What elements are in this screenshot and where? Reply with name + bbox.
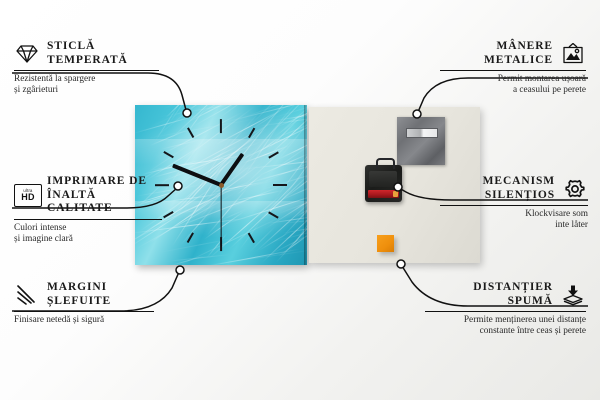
callout-foam-spacer[interactable]: DISTANȚIER SPUMĂ Permite menținerea unei… — [425, 281, 586, 338]
callout-divider — [14, 311, 154, 312]
callout-header: STICLĂ TEMPERATĂ — [14, 40, 159, 67]
callout-header: DISTANȚIER SPUMĂ — [425, 281, 586, 308]
foam-spacer-icon — [560, 284, 586, 306]
callout-title: STICLĂ TEMPERATĂ — [47, 40, 128, 67]
callout-subtitle: Klockvisare som inte låter — [440, 209, 588, 232]
title-line-2: ÎNALTĂ CALITATE — [47, 189, 113, 215]
title-line-2: METALICE — [484, 54, 553, 66]
product-image — [135, 105, 480, 270]
hour-tick — [220, 119, 222, 133]
hd-label: HD — [21, 193, 35, 202]
title-line-2: TEMPERATĂ — [47, 54, 128, 66]
callout-header: ultra HD IMPRIMARE DE ÎNALTĂ CALITATE — [14, 175, 162, 216]
callout-subtitle: Rezistentă la spargere și zgârieturi — [14, 74, 159, 97]
title-line-1: DISTANȚIER — [473, 281, 553, 293]
callout-divider — [14, 70, 159, 71]
metal-hanger-icon — [397, 117, 445, 165]
quartz-mechanism — [365, 165, 402, 202]
sub-line-2: a ceasului pe perete — [513, 85, 586, 95]
callout-silent-mechanism[interactable]: MECANISM SILENȚIOS Klockvisare som inte … — [440, 175, 588, 232]
callout-tempered-glass[interactable]: STICLĂ TEMPERATĂ Rezistentă la spargere … — [14, 40, 159, 97]
sub-line-1: Finisare netedă și sigură — [14, 315, 104, 325]
callout-title: DISTANȚIER SPUMĂ — [473, 281, 553, 308]
callout-header: MARGINI ȘLEFUITE — [14, 281, 154, 308]
callout-divider — [425, 311, 586, 312]
title-line-1: MECANISM — [483, 175, 555, 187]
sub-line-1: Culori intense — [14, 223, 66, 233]
callout-divider — [440, 205, 588, 206]
callout-header: MECANISM SILENȚIOS — [440, 175, 588, 202]
ultra-hd-icon: ultra HD — [14, 184, 40, 206]
sub-line-2: inte låter — [555, 220, 588, 230]
clock-hub — [219, 183, 224, 188]
callout-subtitle: Culori intense și imagine clară — [14, 223, 162, 246]
gear-icon — [562, 178, 588, 200]
callout-divider — [14, 219, 162, 220]
title-line-1: MÂNERE — [496, 40, 553, 52]
picture-hanger-icon — [560, 43, 586, 65]
callout-divider — [440, 70, 586, 71]
title-line-2: SILENȚIOS — [485, 189, 555, 201]
callout-title: MÂNERE METALICE — [484, 40, 553, 67]
infographic-stage: STICLĂ TEMPERATĂ Rezistentă la spargere … — [0, 0, 600, 400]
second-hand — [220, 185, 221, 247]
sub-line-1: Klockvisare som — [525, 209, 588, 219]
callout-high-quality-print[interactable]: ultra HD IMPRIMARE DE ÎNALTĂ CALITATE Cu… — [14, 175, 162, 245]
title-line-2: SPUMĂ — [508, 295, 553, 307]
mechanism-plate — [369, 171, 397, 187]
callout-title: IMPRIMARE DE ÎNALTĂ CALITATE — [47, 175, 162, 216]
foam-spacer — [377, 235, 394, 252]
title-line-1: MARGINI — [47, 281, 107, 293]
glass-edge — [304, 105, 307, 265]
battery — [368, 190, 399, 198]
sub-line-1: Permite menținerea unei distanțe — [464, 315, 586, 325]
hour-tick — [273, 184, 287, 186]
title-line-1: STICLĂ — [47, 40, 95, 52]
title-line-2: ȘLEFUITE — [47, 295, 111, 307]
glass-highlight-band — [135, 139, 307, 165]
hanger-slot — [406, 128, 438, 138]
hanger-loop — [376, 158, 395, 169]
diagonal-stripes-icon — [14, 284, 40, 306]
callout-title: MECANISM SILENȚIOS — [483, 175, 555, 202]
sub-line-1: Rezistentă la spargere — [14, 74, 95, 84]
callout-metal-handles[interactable]: MÂNERE METALICE Permit montarea ușoară a… — [440, 40, 586, 97]
callout-header: MÂNERE METALICE — [440, 40, 586, 67]
sub-line-2: constante între ceas și perete — [480, 326, 586, 336]
callout-subtitle: Permit montarea ușoară a ceasului pe per… — [440, 74, 586, 97]
diamond-icon — [14, 43, 40, 65]
callout-subtitle: Permite menținerea unei distanțe constan… — [425, 315, 586, 338]
callout-polished-edges[interactable]: MARGINI ȘLEFUITE Finisare netedă și sigu… — [14, 281, 154, 326]
sub-line-2: și imagine clară — [14, 234, 73, 244]
sub-line-1: Permit montarea ușoară — [498, 74, 586, 84]
callout-subtitle: Finisare netedă și sigură — [14, 315, 154, 326]
title-line-1: IMPRIMARE DE — [47, 175, 147, 187]
callout-title: MARGINI ȘLEFUITE — [47, 281, 111, 308]
sub-line-2: și zgârieturi — [14, 85, 58, 95]
